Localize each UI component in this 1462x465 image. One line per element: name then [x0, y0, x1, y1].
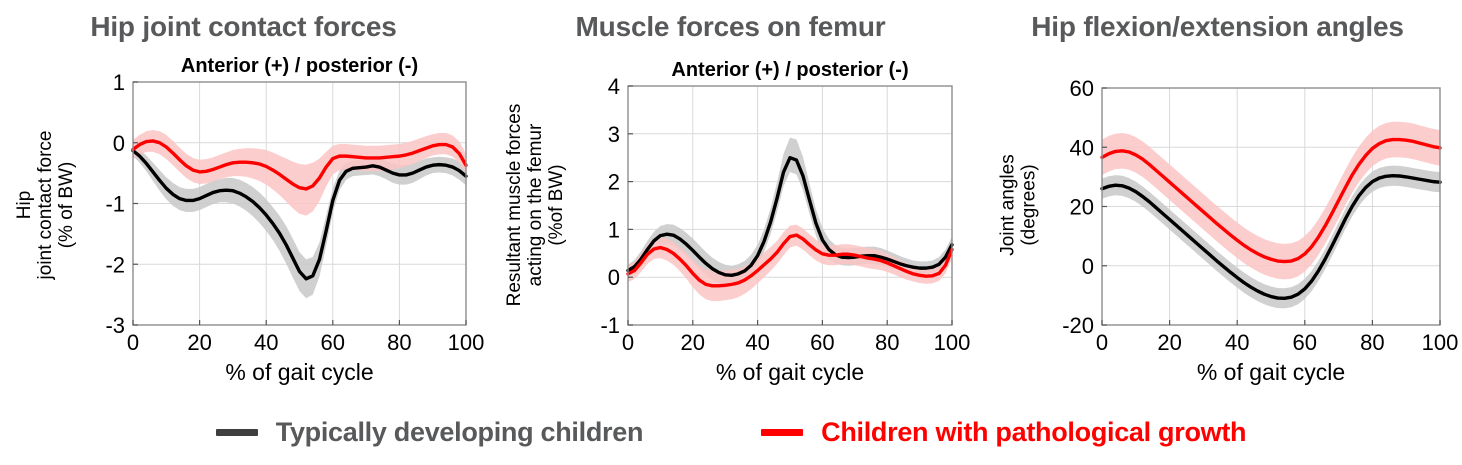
y-axis-label-line: (% of BW)	[56, 162, 77, 249]
chart-panel-muscle-forces-on-femur: Muscle forces on femur 020406080100-1012…	[487, 0, 974, 400]
y-axis-tick-label: 2	[608, 170, 620, 195]
x-axis-tick-label: 40	[1225, 330, 1249, 355]
y-axis-tick-label: -1	[600, 313, 620, 338]
x-axis-tick-label: 0	[1096, 330, 1108, 355]
y-axis-label: Resultant muscle forcesacting on the fem…	[504, 104, 567, 307]
y-axis-tick-label: 20	[1070, 195, 1094, 220]
x-axis-label: % of gait cycle	[225, 359, 373, 385]
x-axis-label: % of gait cycle	[716, 359, 864, 385]
y-axis-label-line: acting on the femur	[525, 123, 546, 286]
y-axis-tick-label: 40	[1070, 135, 1094, 160]
legend-line-swatch-black	[216, 429, 258, 436]
data-line	[1102, 176, 1440, 299]
x-axis-label: % of gait cycle	[1197, 359, 1345, 385]
x-axis-tick-label: 40	[745, 330, 769, 355]
x-axis-tick-label: 60	[1293, 330, 1317, 355]
x-axis-tick-label: 20	[187, 330, 211, 355]
legend-label: Children with pathological growth	[821, 417, 1246, 448]
legend-label: Typically developing children	[276, 417, 643, 448]
y-axis-label: Joint angles(degrees)	[998, 154, 1040, 255]
chart-canvas-hip-joint-contact-forces: 020406080100-3-2-101% of gait cycleHipjo…	[0, 0, 487, 400]
y-axis-label-line: Joint angles	[998, 154, 1019, 255]
chart-canvas-muscle-forces-on-femur: 020406080100-101234% of gait cycleResult…	[487, 0, 974, 400]
y-axis-tick-label: 1	[113, 70, 125, 95]
y-axis-tick-label: 3	[608, 122, 620, 147]
y-axis-tick-label: 60	[1070, 76, 1094, 101]
chart-subtitle: Anterior (+) / posterior (-)	[181, 55, 418, 77]
y-axis-tick-label: 4	[608, 74, 620, 99]
chart-panel-hip-flexion-extension-angles: Hip flexion/extension angles 02040608010…	[974, 0, 1461, 400]
chart-panel-hip-joint-contact-forces: Hip joint contact forces 020406080100-3-…	[0, 0, 487, 400]
y-axis-label-line: (degrees)	[1019, 164, 1040, 245]
x-axis-tick-label: 60	[321, 330, 345, 355]
chart-canvas-hip-flexion-extension-angles: 020406080100-200204060% of gait cycleJoi…	[974, 0, 1461, 400]
x-axis-tick-label: 20	[681, 330, 705, 355]
legend-item-children-with-pathological-growth: Children with pathological growth	[761, 417, 1246, 448]
figure-legend: Typically developing children Children w…	[0, 400, 1462, 465]
y-axis-tick-label: 1	[608, 217, 620, 242]
y-axis-tick-label: 0	[113, 131, 125, 156]
y-axis-tick-label: -3	[105, 313, 125, 338]
y-axis-label-line: (%of BW)	[546, 164, 567, 245]
x-axis-tick-label: 100	[1422, 330, 1459, 355]
x-axis-tick-label: 60	[810, 330, 834, 355]
y-axis-tick-label: -1	[105, 192, 125, 217]
x-axis-tick-label: 0	[127, 330, 139, 355]
y-axis-label-line: joint contact force	[35, 131, 56, 281]
x-axis-tick-label: 80	[875, 330, 899, 355]
y-axis-tick-label: 0	[1082, 254, 1094, 279]
x-axis-tick-label: 100	[448, 330, 485, 355]
confidence-band	[1102, 166, 1440, 309]
x-axis-tick-label: 40	[254, 330, 278, 355]
gait-analysis-figure: Hip joint contact forces 020406080100-3-…	[0, 0, 1462, 465]
x-axis-tick-label: 80	[387, 330, 411, 355]
y-axis-label: Hipjoint contact force(% of BW)	[14, 131, 77, 281]
legend-item-typically-developing-children: Typically developing children	[216, 417, 643, 448]
legend-line-swatch-red	[761, 429, 803, 436]
y-axis-label-line: Hip	[14, 191, 35, 220]
plot-frame	[628, 86, 952, 325]
x-axis-tick-label: 0	[622, 330, 634, 355]
y-axis-tick-label: -2	[105, 252, 125, 277]
x-axis-tick-label: 80	[1360, 330, 1384, 355]
x-axis-tick-label: 20	[1157, 330, 1181, 355]
y-axis-tick-label: 0	[608, 265, 620, 290]
chart-panels: Hip joint contact forces 020406080100-3-…	[0, 0, 1462, 400]
y-axis-tick-label: -20	[1062, 313, 1094, 338]
y-axis-label-line: Resultant muscle forces	[504, 104, 525, 307]
chart-subtitle: Anterior (+) / posterior (-)	[671, 59, 908, 81]
x-axis-tick-label: 100	[934, 330, 971, 355]
